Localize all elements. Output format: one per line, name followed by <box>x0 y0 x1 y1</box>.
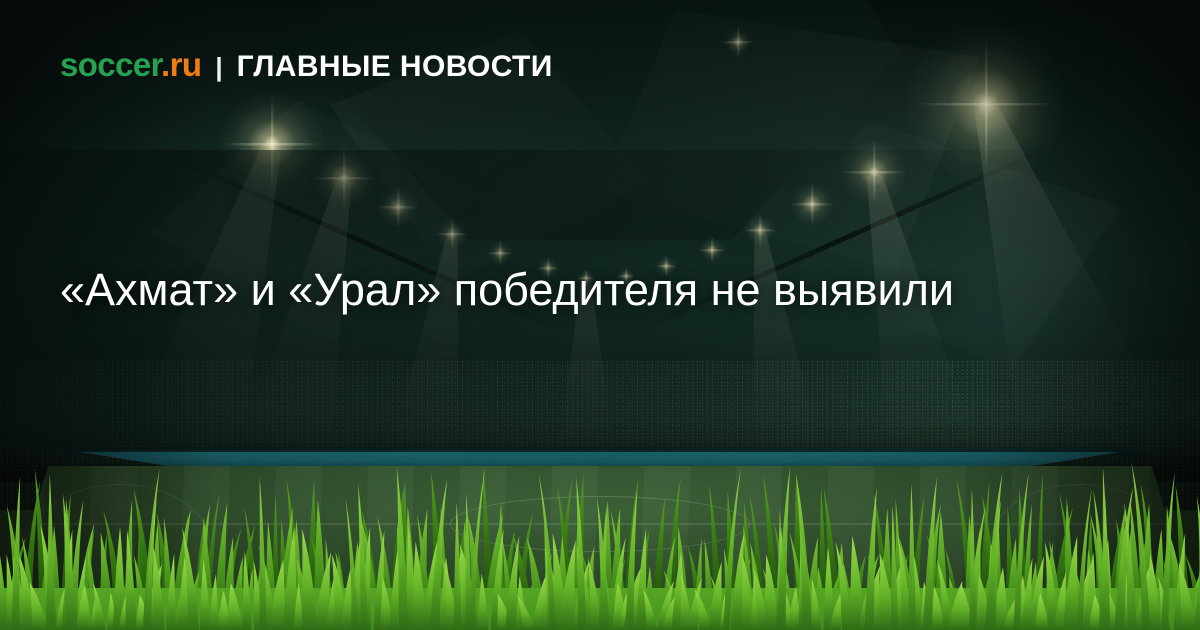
logo-tld-text: ru <box>170 46 202 83</box>
logo-dot: . <box>161 46 170 83</box>
grass-blades-illustration <box>0 460 1200 630</box>
header-separator: | <box>215 54 222 80</box>
site-header: soccer.ru | ГЛАВНЫЕ НОВОСТИ <box>60 48 553 82</box>
article-cover-image: soccer.ru | ГЛАВНЫЕ НОВОСТИ «Ахмат» и «У… <box>0 0 1200 630</box>
grass-blade <box>260 477 267 630</box>
page-title: «Ахмат» и «Урал» победителя не выявили <box>60 262 1040 319</box>
foreground-grass <box>0 460 1200 630</box>
header-kicker: ГЛАВНЫЕ НОВОСТИ <box>237 52 553 82</box>
site-logo[interactable]: soccer.ru <box>60 48 201 81</box>
logo-brand-text: soccer <box>60 46 161 83</box>
grass-blade <box>908 483 915 630</box>
